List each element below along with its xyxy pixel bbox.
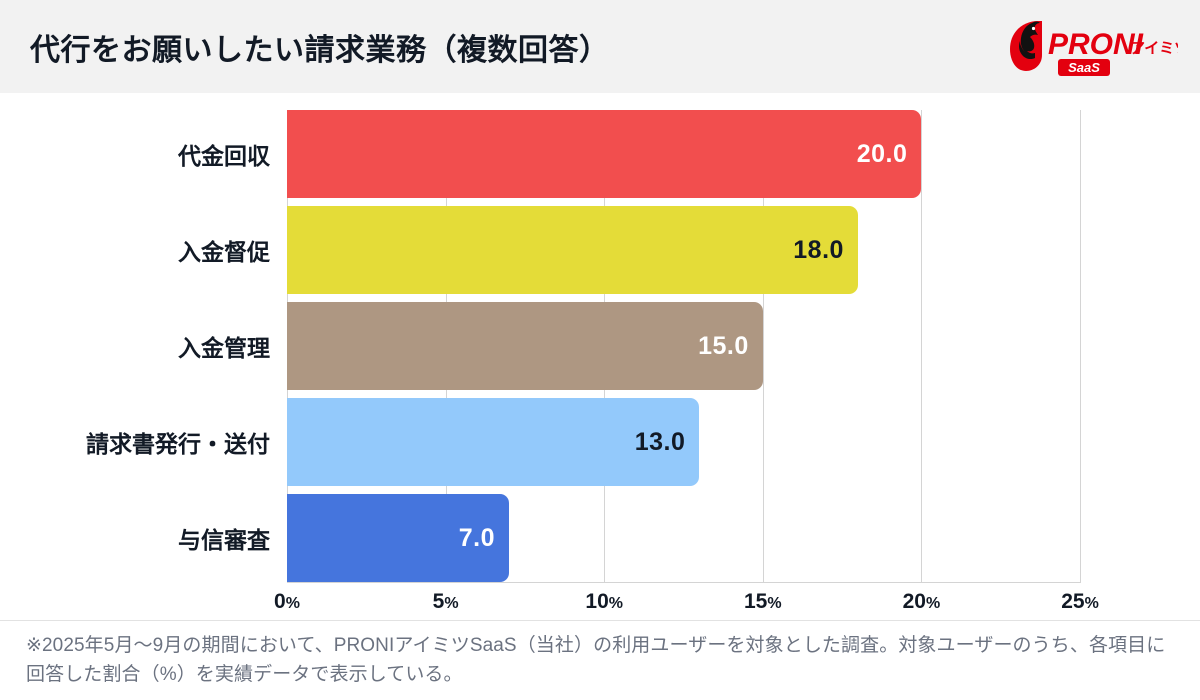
page-title: 代行をお願いしたい請求業務（複数回答） [30,25,610,69]
category-label-4: 請求書発行・送付 [0,398,270,486]
logo-badge-label: SaaS [1068,60,1100,75]
bar-5[interactable]: 7.0 [287,494,509,582]
bar-value-label: 15.0 [698,332,763,361]
category-label-3: 入金管理 [0,302,270,390]
plot-region: 20.018.015.013.07.0 [287,110,1080,582]
x-tick-label-20: 20% [903,590,941,614]
x-axis-line [287,582,1081,583]
bar-value-label: 18.0 [793,236,858,265]
bar-value-label: 20.0 [857,140,922,169]
bar-row: 15.0 [287,302,1080,390]
proni-aimitsu-saas-logo: PRONI アイミツ SaaS [1002,15,1178,79]
bar-row: 18.0 [287,206,1080,294]
x-tick-label-25: 25% [1061,590,1099,614]
bar-row: 20.0 [287,110,1080,198]
chart-page: 代行をお願いしたい請求業務（複数回答） PRONI アイミツ SaaS 20.0… [0,0,1200,700]
category-label-2: 入金督促 [0,206,270,294]
x-tick-label-10: 10% [585,590,623,614]
chart-header: 代行をお願いしたい請求業務（複数回答） PRONI アイミツ SaaS [0,0,1200,93]
penguin-eye-icon [1032,26,1035,29]
bar-3[interactable]: 15.0 [287,302,763,390]
logo-katakana: アイミツ [1130,39,1178,57]
bar-row: 7.0 [287,494,1080,582]
bar-row: 13.0 [287,398,1080,486]
x-tick-label-0: 0% [274,590,300,614]
chart-footer: ※2025年5月〜9月の期間において、PRONIアイミツSaaS（当社）の利用ユ… [0,620,1200,700]
gridline-25 [1080,110,1081,582]
category-label-5: 与信審査 [0,494,270,582]
bar-4[interactable]: 13.0 [287,398,699,486]
chart-area: 20.018.015.013.07.0 0%5%10%15%20%25% 代金回… [0,93,1200,620]
bar-1[interactable]: 20.0 [287,110,921,198]
category-label-1: 代金回収 [0,110,270,198]
x-tick-label-5: 5% [433,590,459,614]
footnote-text: ※2025年5月〜9月の期間において、PRONIアイミツSaaS（当社）の利用ユ… [26,631,1174,690]
bar-value-label: 7.0 [459,524,509,553]
logo-svg: PRONI アイミツ SaaS [1002,15,1178,79]
bar-value-label: 13.0 [635,428,700,457]
bar-2[interactable]: 18.0 [287,206,858,294]
x-tick-label-15: 15% [744,590,782,614]
